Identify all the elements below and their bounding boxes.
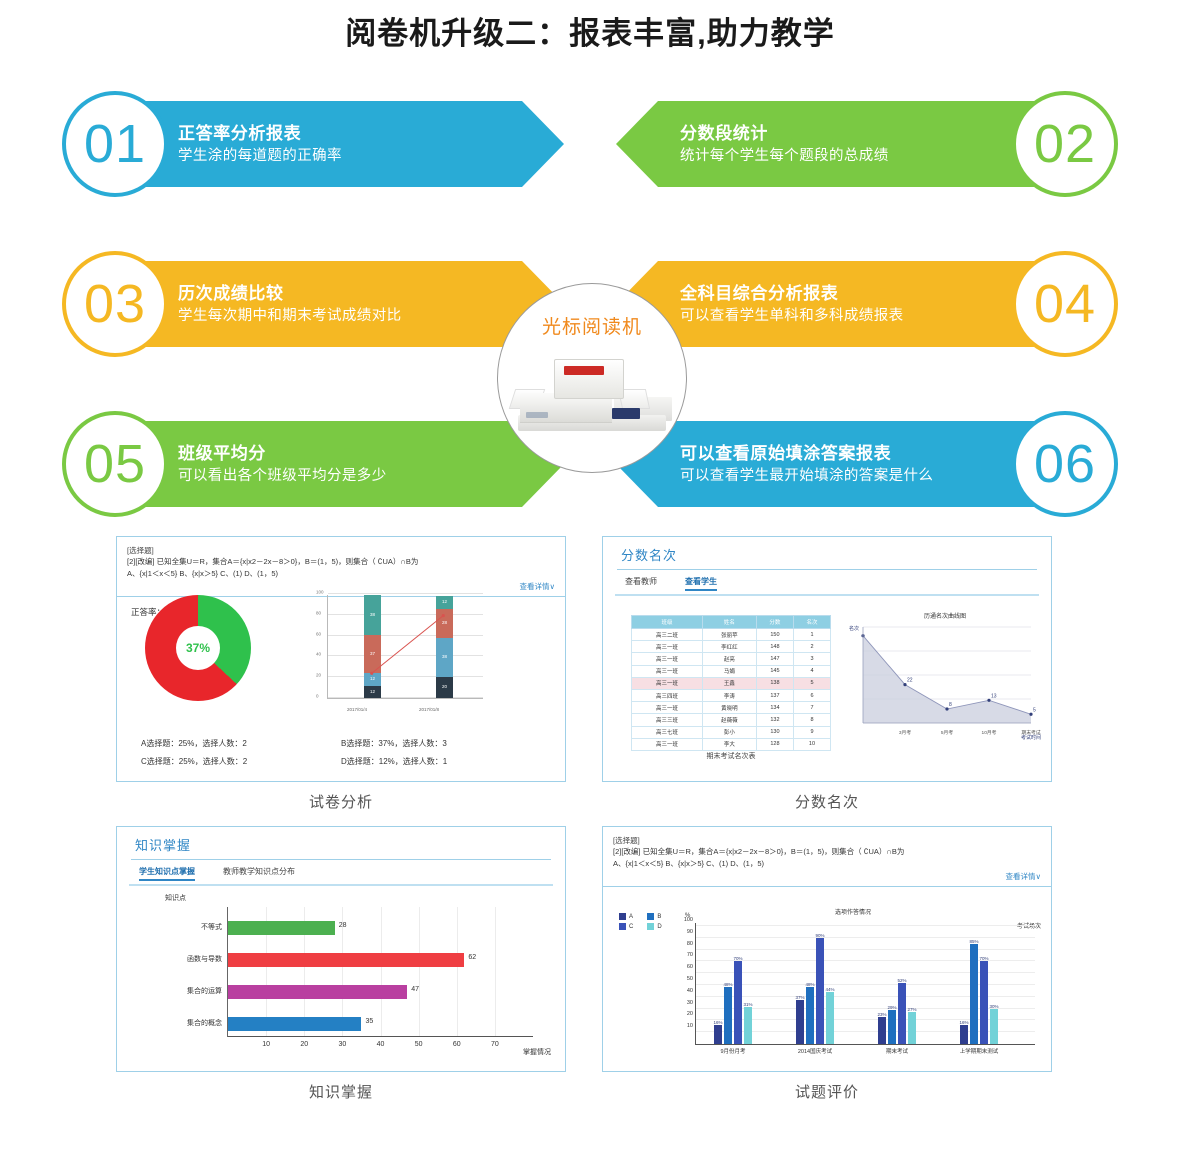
table-cell: 高三一班 xyxy=(632,677,703,689)
bar-value-label: 44% xyxy=(825,987,834,992)
stacked-bar-chart: 02040608010012123738203828122017/01/4201… xyxy=(313,595,483,713)
answer-stat: C选择题：25%，选择人数：2 xyxy=(141,756,341,767)
table-cell: 李大 xyxy=(702,738,756,750)
bar-value-label: 48% xyxy=(805,982,814,987)
table-row[interactable]: 高三四班李涛1376 xyxy=(632,689,831,701)
axis-tick: 90 xyxy=(687,929,693,935)
panel-header-title: 知识掌握 xyxy=(135,835,565,854)
feature-band: 可以查看原始填涂答案报表 可以查看学生最开始填涂的答案是什么 xyxy=(616,421,1046,507)
table-cell: 9 xyxy=(793,726,830,738)
bar-value-label: 28 xyxy=(339,922,347,929)
screenshot-knowledge-mastery: 知识掌握 学生知识点掌握 教师教学知识点分布 知识点 1020304050607… xyxy=(116,826,566,1072)
axis-tick: 70 xyxy=(491,1041,499,1048)
feature-subtitle: 统计每个学生每个题段的总成绩 xyxy=(680,147,1046,165)
table-row[interactable]: 高三一班黄晓明1347 xyxy=(632,702,831,714)
table-cell: 王鑫 xyxy=(702,677,756,689)
axis-tick: 40 xyxy=(377,1041,385,1048)
panel-caption: 知识掌握 xyxy=(116,1081,566,1102)
question-tag: [选择题] xyxy=(127,545,555,556)
tab-view-teacher[interactable]: 查看教师 xyxy=(625,576,657,591)
feature-subtitle: 可以查看学生单科和多科成绩报表 xyxy=(680,307,1046,325)
knowledge-bar-chart: 知识点 10203040506070不等式28函数与导数62集合的运算47集合的… xyxy=(137,893,549,1063)
donut-chart: 37% xyxy=(145,595,261,711)
bar-value-label: 30% xyxy=(989,1004,998,1009)
legend-item: B xyxy=(647,913,661,920)
feature-title: 正答率分析报表 xyxy=(178,123,564,144)
table-header: 姓名 xyxy=(702,616,756,629)
table-row[interactable]: 高三一班赵亮1473 xyxy=(632,653,831,665)
rank-table: 班级姓名分数名次高三二班张丽苹1501高三一班李红红1482高三一班赵亮1473… xyxy=(631,615,831,751)
panel-score-rank: 分数名次 查看教师 查看学生 班级姓名分数名次高三二班张丽苹1501高三一班李红… xyxy=(602,536,1052,812)
table-cell: 147 xyxy=(756,653,793,665)
panel-header: 知识掌握 xyxy=(117,827,565,854)
tab-student-knowledge[interactable]: 学生知识点掌握 xyxy=(139,866,195,881)
answer-distribution: A选择题：25%，选择人数：2 B选择题：37%，选择人数：3 C选择题：25%… xyxy=(141,738,541,767)
poster-root: 阅卷机升级二：报表丰富,助力教学 光标阅读机 01 xyxy=(0,0,1180,1174)
table-cell: 高三一班 xyxy=(632,702,703,714)
bar-group: 16%85%70%30%上学期期末测试 xyxy=(960,944,998,1044)
axis-tick: 60 xyxy=(687,964,693,970)
chart-title: 选项作答情况 xyxy=(665,907,1041,916)
feature-number: 05 xyxy=(84,437,146,491)
svg-text:10月考: 10月考 xyxy=(982,730,997,736)
svg-text:3月考: 3月考 xyxy=(899,730,911,736)
svg-text:22: 22 xyxy=(907,678,913,684)
axis-tick: 40 xyxy=(687,988,693,994)
bar: 16% xyxy=(714,1025,722,1044)
feature-number-badge: 03 xyxy=(62,251,168,357)
answer-stat: A选择题：25%，选择人数：2 xyxy=(141,738,341,749)
axis-tick: 50 xyxy=(687,976,693,982)
rank-trend-chart: 历通名次曲线图 名次 考试时间 2281353月考5月考10月考期末考试 xyxy=(849,611,1041,761)
bar-value-label: 62 xyxy=(468,954,476,961)
svg-text:期末考试: 期末考试 xyxy=(1021,729,1040,736)
table-cell: 李红红 xyxy=(702,641,756,653)
feature-number: 06 xyxy=(1034,437,1096,491)
table-cell: 李涛 xyxy=(702,689,756,701)
axis-tick: 80 xyxy=(687,941,693,947)
bar-value-label: 85% xyxy=(969,939,978,944)
table-cell: 1 xyxy=(793,629,830,641)
table-cell: 134 xyxy=(756,702,793,714)
page-title: 阅卷机升级二：报表丰富,助力教学 xyxy=(0,8,1180,53)
center-label: 光标阅读机 xyxy=(542,312,642,339)
legend-item: D xyxy=(647,923,661,930)
question-line-1: [2][改编] 已知全集U＝R，集合A＝{x|x2－2x－8＞0}，B＝(1，5… xyxy=(613,846,1041,858)
table-cell: 高三一班 xyxy=(632,653,703,665)
feature-number-badge: 01 xyxy=(62,91,168,197)
table-row[interactable]: 高三一班李红红1482 xyxy=(632,641,831,653)
table-cell: 5 xyxy=(793,677,830,689)
feature-band: 正答率分析报表 学生涂的每道题的正确率 xyxy=(134,101,564,187)
bar-value-label: 16% xyxy=(713,1020,722,1025)
tab-teacher-knowledge[interactable]: 教师教学知识点分布 xyxy=(223,866,295,881)
bar: 48% xyxy=(806,987,814,1044)
table-row[interactable]: 高三二班张丽苹1501 xyxy=(632,629,831,641)
bar: 16% xyxy=(960,1025,968,1044)
table-cell: 3 xyxy=(793,653,830,665)
table-cell: 高三四班 xyxy=(632,689,703,701)
panel-exam-analysis: [选择题] [2][改编] 已知全集U＝R，集合A＝{x|x2－2x－8＞0}，… xyxy=(116,536,566,812)
feature-number-badge: 04 xyxy=(1012,251,1118,357)
bar-value-label: 48% xyxy=(723,982,732,987)
feature-number: 03 xyxy=(84,277,146,331)
bar-value-label: 29% xyxy=(887,1005,896,1010)
bar-value-label: 70% xyxy=(979,956,988,961)
question-tag: [选择题] xyxy=(613,835,1041,846)
panel-header-title: 分数名次 xyxy=(621,545,1051,564)
table-cell: 132 xyxy=(756,714,793,726)
panel-question-evaluation: [选择题] [2][改编] 已知全集U＝R，集合A＝{x|x2－2x－8＞0}，… xyxy=(602,826,1052,1102)
bar: 37% xyxy=(796,1000,804,1044)
feature-subtitle: 可以看出各个班级平均分是多少 xyxy=(178,467,564,485)
table-cell: 130 xyxy=(756,726,793,738)
bar: 31% xyxy=(744,1007,752,1044)
bar-value-label: 16% xyxy=(959,1020,968,1025)
feature-title: 历次成绩比较 xyxy=(178,283,564,304)
axis-tick: 70 xyxy=(687,952,693,958)
feature-item-02[interactable]: 02 分数段统计 统计每个学生每个题段的总成绩 xyxy=(588,88,1118,200)
table-cell: 赵薇薇 xyxy=(702,714,756,726)
feature-band: 班级平均分 可以看出各个班级平均分是多少 xyxy=(134,421,564,507)
feature-title: 分数段统计 xyxy=(680,123,1046,144)
center-circle: 光标阅读机 xyxy=(497,283,687,473)
bar: 44% xyxy=(826,992,834,1044)
axis-tick: 10 xyxy=(687,1023,693,1029)
bar: 85% xyxy=(970,944,978,1044)
table-row[interactable]: 高三七班彭小1309 xyxy=(632,726,831,738)
chart-legend: ABCD xyxy=(619,913,662,930)
table-header: 名次 xyxy=(793,616,830,629)
bar: 70% xyxy=(980,961,988,1044)
svg-text:5: 5 xyxy=(1033,707,1036,713)
bar-value-label: 70% xyxy=(733,956,742,961)
feature-diagram: 光标阅读机 01 正答率分析报表 学生涂的每道题的 xyxy=(0,78,1180,528)
panel-caption: 试题评价 xyxy=(602,1081,1052,1102)
bar-category-label: 集合的概念 xyxy=(187,1018,222,1028)
axis-tick: 上学期期末测试 xyxy=(960,1047,999,1055)
feature-band: 全科目综合分析报表 可以查看学生单科和多科成绩报表 xyxy=(616,261,1046,347)
table-row[interactable]: 高三一班李大12810 xyxy=(632,738,831,750)
table-cell: 高三七班 xyxy=(632,726,703,738)
feature-number: 02 xyxy=(1034,117,1096,171)
feature-subtitle: 可以查看学生最开始填涂的答案是什么 xyxy=(680,467,1046,485)
table-row[interactable]: 高三三班赵薇薇1328 xyxy=(632,714,831,726)
table-cell: 马娟 xyxy=(702,665,756,677)
table-cell: 赵亮 xyxy=(702,653,756,665)
axis-tick: 10 xyxy=(262,1041,270,1048)
table-cell: 2 xyxy=(793,641,830,653)
bar: 70% xyxy=(734,961,742,1044)
feature-item-01[interactable]: 01 正答率分析报表 学生涂的每道题的正确率 xyxy=(62,88,592,200)
question-box: [选择题] [2][改编] 已知全集U＝R，集合A＝{x|x2－2x－8＞0}，… xyxy=(603,827,1051,887)
panel-knowledge-mastery: 知识掌握 学生知识点掌握 教师教学知识点分布 知识点 1020304050607… xyxy=(116,826,566,1102)
question-line-2: A、{x|1＜x＜5} B、{x|x＞5} C、(1) D、(1，5) xyxy=(127,568,555,580)
view-detail-link[interactable]: 查看详情∨ xyxy=(127,581,555,592)
bar: 30% xyxy=(990,1009,998,1044)
feature-row-1: 01 正答率分析报表 学生涂的每道题的正确率 02 分数段统计 统计每个学生每个… xyxy=(0,88,1180,200)
screenshot-question-evaluation: [选择题] [2][改编] 已知全集U＝R，集合A＝{x|x2－2x－8＞0}，… xyxy=(602,826,1052,1072)
feature-number: 04 xyxy=(1034,277,1096,331)
answer-stat: B选择题：37%，选择人数：3 xyxy=(341,738,541,749)
tab-view-student[interactable]: 查看学生 xyxy=(685,576,717,591)
table-cell: 高三二班 xyxy=(632,629,703,641)
table-header: 分数 xyxy=(756,616,793,629)
axis-tick: 20 xyxy=(300,1041,308,1048)
table-cell: 10 xyxy=(793,738,830,750)
table-cell: 138 xyxy=(756,677,793,689)
table-cell: 黄晓明 xyxy=(702,702,756,714)
axis-tick: 100 xyxy=(684,917,693,923)
axis-tick: 30 xyxy=(338,1041,346,1048)
svg-text:5月考: 5月考 xyxy=(941,730,953,736)
tab-bar: 查看教师 查看学生 xyxy=(603,570,1051,591)
scanner-machine-image xyxy=(512,349,672,435)
svg-text:13: 13 xyxy=(991,693,997,699)
rank-table-caption: 期末考试名次表 xyxy=(631,751,831,761)
table-cell: 128 xyxy=(756,738,793,750)
panel-caption: 分数名次 xyxy=(602,791,1052,812)
feature-band: 历次成绩比较 学生每次期中和期末考试成绩对比 xyxy=(134,261,564,347)
legend-item: C xyxy=(619,923,633,930)
table-cell: 高三一班 xyxy=(632,665,703,677)
feature-number-badge: 02 xyxy=(1012,91,1118,197)
svg-text:8: 8 xyxy=(949,702,952,708)
feature-band: 分数段统计 统计每个学生每个题段的总成绩 xyxy=(616,101,1046,187)
table-cell: 高三三班 xyxy=(632,714,703,726)
bar-value-label: 31% xyxy=(743,1002,752,1007)
bar: 90% xyxy=(816,938,824,1044)
table-cell: 张丽苹 xyxy=(702,629,756,641)
bar-value-label: 90% xyxy=(815,933,824,938)
bar-category-label: 集合的运算 xyxy=(187,986,222,996)
table-cell: 高三一班 xyxy=(632,738,703,750)
table-cell: 彭小 xyxy=(702,726,756,738)
screenshot-exam-analysis: [选择题] [2][改编] 已知全集U＝R，集合A＝{x|x2－2x－8＞0}，… xyxy=(116,536,566,782)
chart-xlabel: 掌握情况 xyxy=(523,1047,551,1057)
bar-row: 集合的概念35 xyxy=(228,1017,533,1031)
table-cell: 148 xyxy=(756,641,793,653)
bar: 48% xyxy=(724,987,732,1044)
bar-value-label: 35 xyxy=(365,1018,373,1025)
table-cell: 150 xyxy=(756,629,793,641)
bar-group: 23%29%52%27%期末考试 xyxy=(878,983,916,1044)
axis-tick: 20 xyxy=(687,1011,693,1017)
divider xyxy=(615,594,1039,596)
bar: 23% xyxy=(878,1017,886,1044)
feature-number-badge: 05 xyxy=(62,411,168,517)
view-detail-link[interactable]: 查看详情∨ xyxy=(613,871,1041,882)
question-line-2: A、{x|1＜x＜5} B、{x|x＞5} C、(1) D、(1，5) xyxy=(613,858,1041,870)
answer-stat: D选择题：12%，选择人数：1 xyxy=(341,756,541,767)
bar-group: 16%48%70%31%9月份月考 xyxy=(714,961,752,1044)
question-box: [选择题] [2][改编] 已知全集U＝R，集合A＝{x|x2－2x－8＞0}，… xyxy=(117,537,565,597)
question-line-1: [2][改编] 已知全集U＝R，集合A＝{x|x2－2x－8＞0}，B＝(1，5… xyxy=(127,556,555,568)
bar-value-label: 47 xyxy=(411,986,419,993)
feature-title: 全科目综合分析报表 xyxy=(680,283,1046,304)
table-row[interactable]: 高三一班王鑫1385 xyxy=(632,677,831,689)
bar-row: 不等式28 xyxy=(228,921,533,935)
feature-subtitle: 学生涂的每道题的正确率 xyxy=(178,147,564,165)
panel-header: 分数名次 xyxy=(603,537,1051,564)
donut-center-label: 37% xyxy=(145,595,251,701)
legend-item: A xyxy=(619,913,633,920)
feature-title: 班级平均分 xyxy=(178,443,564,464)
axis-tick: 9月份月考 xyxy=(720,1047,745,1055)
bar-group: 37%48%90%44%2014国庆考试 xyxy=(796,938,834,1044)
tab-bar: 学生知识点掌握 教师教学知识点分布 xyxy=(117,860,565,881)
table-cell: 7 xyxy=(793,702,830,714)
bar: 29% xyxy=(888,1010,896,1044)
table-cell: 6 xyxy=(793,689,830,701)
table-header: 班级 xyxy=(632,616,703,629)
feature-subtitle: 学生每次期中和期末考试成绩对比 xyxy=(178,307,564,325)
table-cell: 8 xyxy=(793,714,830,726)
bar: 27% xyxy=(908,1012,916,1044)
bar-category-label: 不等式 xyxy=(201,922,222,932)
axis-tick: 期末考试 xyxy=(886,1047,908,1055)
screenshot-gallery: [选择题] [2][改编] 已知全集U＝R，集合A＝{x|x2－2x－8＞0}，… xyxy=(0,530,1180,1174)
panel-caption: 试卷分析 xyxy=(116,791,566,812)
bar-category-label: 函数与导数 xyxy=(187,954,222,964)
bar-value-label: 37% xyxy=(795,995,804,1000)
screenshot-score-rank: 分数名次 查看教师 查看学生 班级姓名分数名次高三二班张丽苹1501高三一班李红… xyxy=(602,536,1052,782)
axis-tick: 2014国庆考试 xyxy=(798,1047,832,1055)
bar-row: 集合的运算47 xyxy=(228,985,533,999)
divider xyxy=(129,884,553,886)
option-bar-chart: 选项作答情况 % 考试场次 10203040506070809010016%48… xyxy=(665,907,1041,1067)
table-cell: 高三一班 xyxy=(632,641,703,653)
axis-tick: 60 xyxy=(453,1041,461,1048)
axis-tick: 30 xyxy=(687,1000,693,1006)
bar: 52% xyxy=(898,983,906,1044)
bar-row: 函数与导数62 xyxy=(228,953,533,967)
axis-tick: 50 xyxy=(415,1041,423,1048)
feature-number: 01 xyxy=(84,117,146,171)
table-cell: 145 xyxy=(756,665,793,677)
bar-value-label: 27% xyxy=(907,1007,916,1012)
table-row[interactable]: 高三一班马娟1454 xyxy=(632,665,831,677)
feature-title: 可以查看原始填涂答案报表 xyxy=(680,443,1046,464)
table-cell: 137 xyxy=(756,689,793,701)
table-cell: 4 xyxy=(793,665,830,677)
feature-number-badge: 06 xyxy=(1012,411,1118,517)
chart-ylabel: 知识点 xyxy=(165,893,186,903)
bar-value-label: 23% xyxy=(877,1012,886,1017)
bar-value-label: 52% xyxy=(897,978,906,983)
